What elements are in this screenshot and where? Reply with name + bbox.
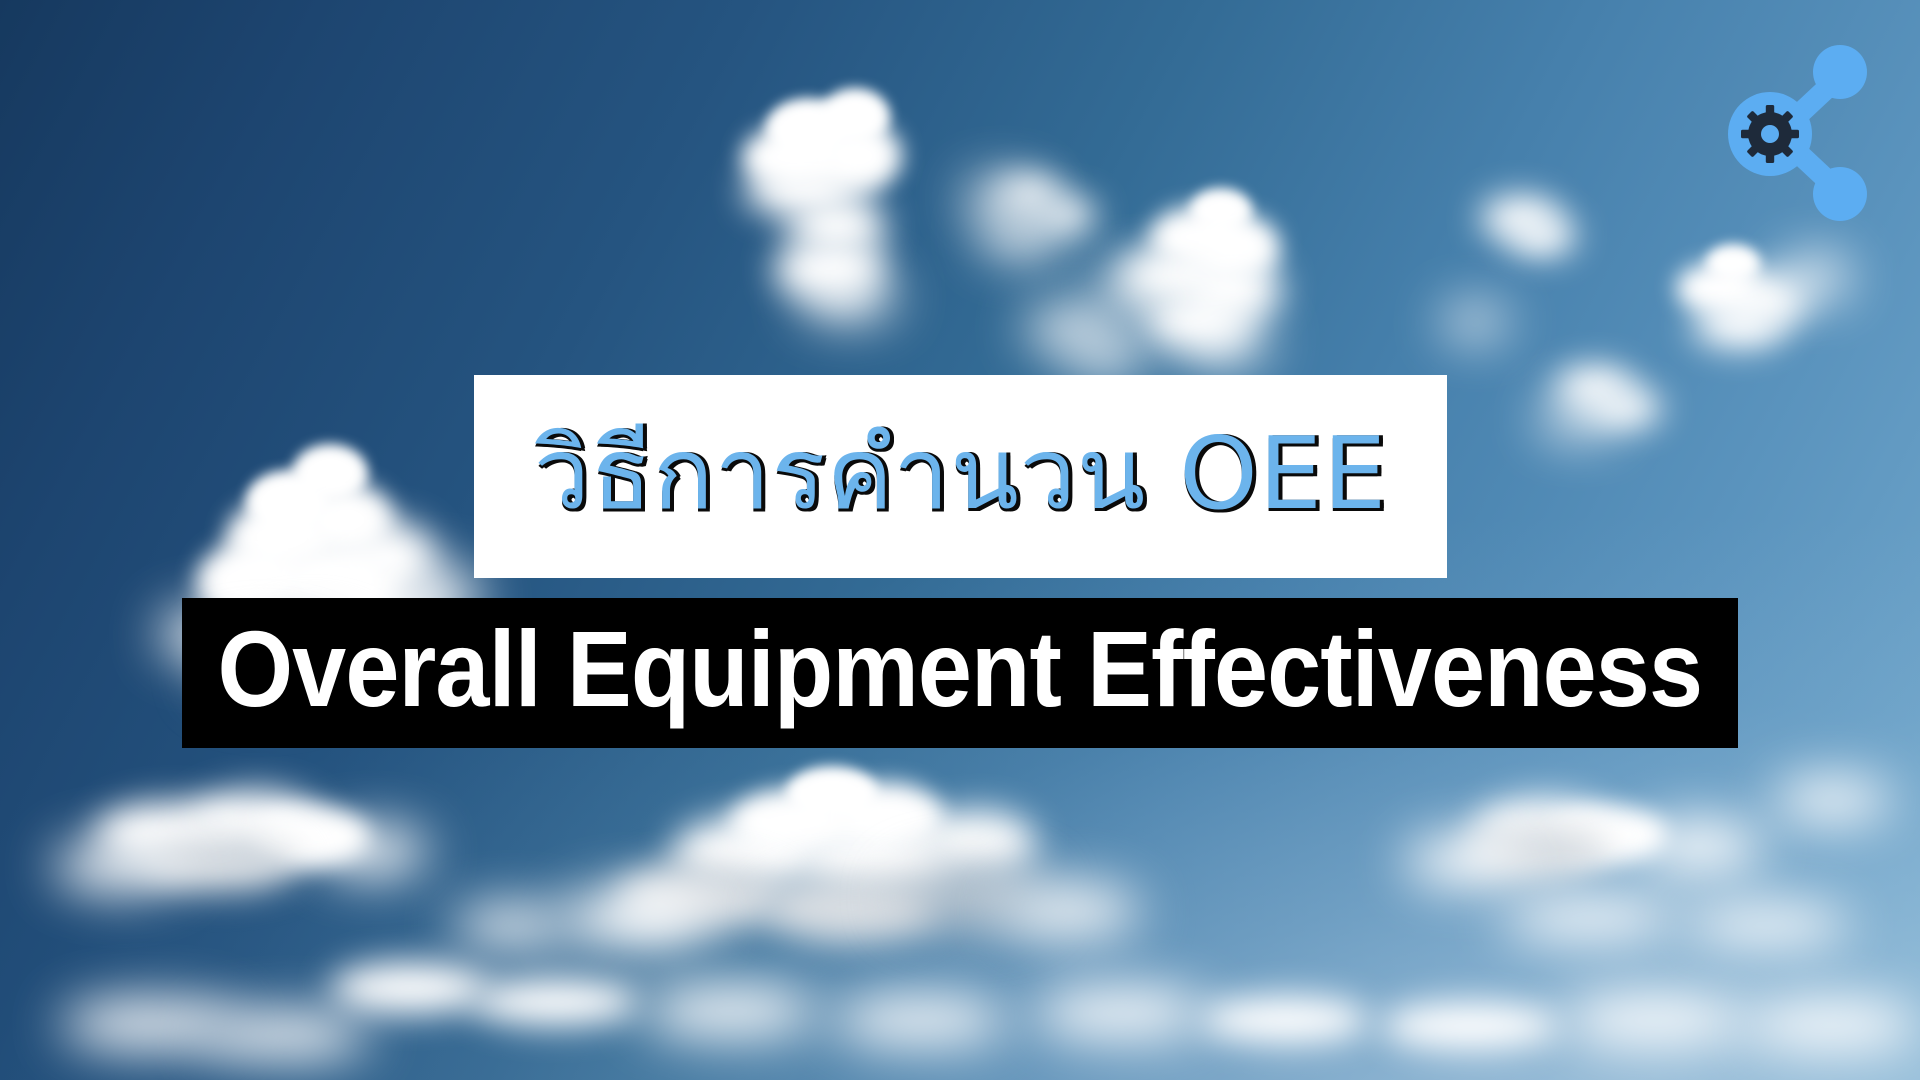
slide-canvas: วิธีการคำนวน OEE Overall Equipment Effec… xyxy=(0,0,1920,1080)
subtitle-banner: Overall Equipment Effectiveness xyxy=(182,598,1738,748)
page-subtitle-english: Overall Equipment Effectiveness xyxy=(218,615,1703,731)
share-gear-logo[interactable] xyxy=(1720,42,1880,222)
share-gear-icon xyxy=(1720,42,1880,222)
title-card: วิธีการคำนวน OEE xyxy=(474,375,1447,578)
page-title-thai: วิธีการคำนวน OEE xyxy=(534,424,1387,530)
